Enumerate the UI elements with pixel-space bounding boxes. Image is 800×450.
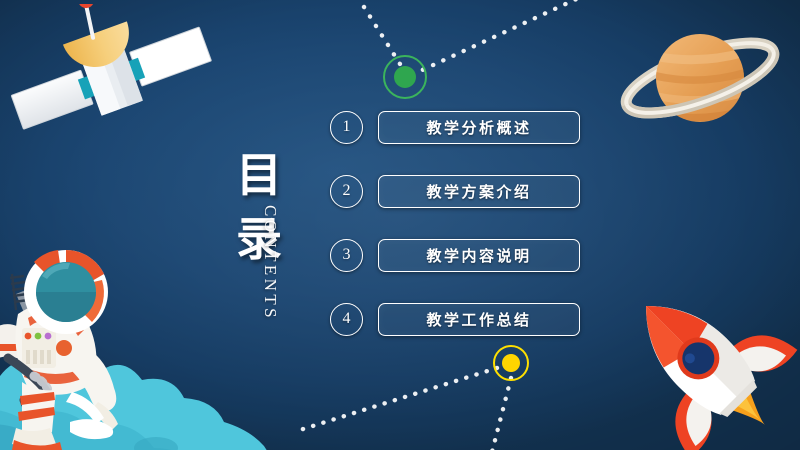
menu-number-1: 1 bbox=[330, 111, 363, 144]
menu-item-4[interactable]: 4 教学工作总结 bbox=[330, 297, 580, 341]
green-node-core bbox=[394, 66, 416, 88]
menu-number-2: 2 bbox=[330, 175, 363, 208]
menu-item-1[interactable]: 1 教学分析概述 bbox=[330, 105, 580, 149]
menu-label-1[interactable]: 教学分析概述 bbox=[378, 111, 580, 144]
slide-title: 目录 CONTENTS bbox=[228, 143, 328, 288]
title-english: CONTENTS bbox=[260, 205, 280, 321]
satellite-icon bbox=[6, 4, 218, 156]
title-chinese: 目录 bbox=[228, 143, 290, 271]
rocket-illustration bbox=[606, 276, 800, 450]
green-node bbox=[383, 55, 427, 99]
menu-label-2[interactable]: 教学方案介绍 bbox=[378, 175, 580, 208]
menu-number-4: 4 bbox=[330, 303, 363, 336]
yellow-node-core bbox=[502, 354, 520, 372]
astronaut-illustration bbox=[0, 236, 169, 450]
yellow-node bbox=[493, 345, 529, 381]
contents-menu: 1 教学分析概述 2 教学方案介绍 3 教学内容说明 4 教学工作总结 bbox=[330, 105, 580, 341]
menu-number-3: 3 bbox=[330, 239, 363, 272]
menu-item-3[interactable]: 3 教学内容说明 bbox=[330, 233, 580, 277]
menu-label-4[interactable]: 教学工作总结 bbox=[378, 303, 580, 336]
saturn-planet-icon bbox=[612, 12, 792, 146]
menu-item-2[interactable]: 2 教学方案介绍 bbox=[330, 169, 580, 213]
menu-label-3[interactable]: 教学内容说明 bbox=[378, 239, 580, 272]
presentation-slide: 目录 CONTENTS 1 教学分析概述 2 教学方案介绍 3 教学内容说明 4… bbox=[0, 0, 800, 450]
